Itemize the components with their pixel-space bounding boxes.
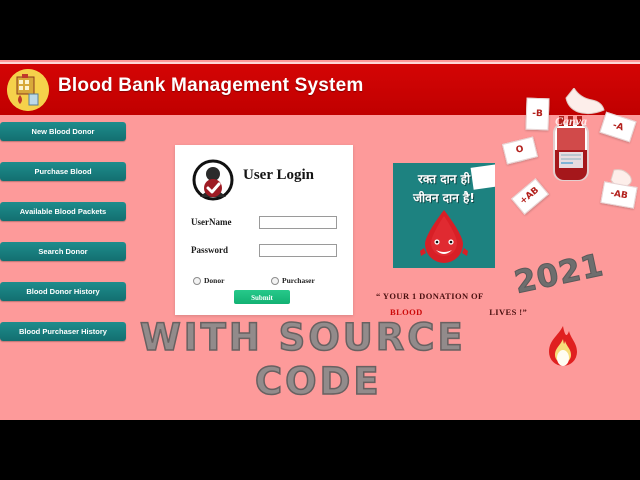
role-radio-group: Donor Purchaser (193, 272, 339, 284)
sidebar-item-blood-donor-history[interactable]: Blood Donor History (0, 282, 126, 301)
radio-purchaser-dot (271, 277, 279, 285)
poster-line-2: जीवन दान है! (393, 189, 495, 206)
sidebar-item-search-donor[interactable]: Search Donor (0, 242, 126, 261)
flame-icon (546, 325, 580, 371)
radio-purchaser-label: Purchaser (282, 276, 315, 285)
sidebar: New Blood Donor Purchase Blood Available… (0, 122, 132, 362)
letterbox-top (0, 0, 640, 60)
password-input[interactable] (259, 244, 337, 257)
poster-corner-fold (471, 164, 495, 189)
sidebar-item-available-blood-packets[interactable]: Available Blood Packets (0, 202, 126, 221)
radio-donor-dot (193, 277, 201, 285)
sidebar-item-new-blood-donor[interactable]: New Blood Donor (0, 122, 126, 141)
sidebar-item-purchase-blood[interactable]: Purchase Blood (0, 162, 126, 181)
radio-purchaser[interactable]: Purchaser (271, 272, 315, 284)
username-label: UserName (191, 217, 255, 227)
overlay-title-line-2: CODE (255, 360, 382, 403)
blood-bag-artwork: Canva -B -A O +AB -AB (502, 88, 640, 220)
submit-button[interactable]: Submit (234, 290, 290, 304)
video-frame: Blood Bank Management System New Blood D… (0, 0, 640, 480)
radio-donor[interactable]: Donor (193, 272, 224, 284)
login-heading: User Login (243, 167, 314, 184)
blood-type-card-b: -B (525, 98, 549, 131)
application-window: Blood Bank Management System New Blood D… (0, 60, 640, 420)
radio-donor-label: Donor (204, 276, 224, 285)
username-row: UserName (191, 216, 341, 231)
hospital-building-icon (7, 69, 49, 111)
blood-drop-mascot-icon (419, 208, 469, 268)
sidebar-item-blood-purchaser-history[interactable]: Blood Purchaser History (0, 322, 126, 341)
donation-poster: रक्त दान ही जीवन दान है! (393, 163, 495, 268)
user-check-avatar-icon (192, 159, 234, 201)
password-row: Password (191, 244, 341, 259)
username-input[interactable] (259, 216, 337, 229)
overlay-year: 2021 (511, 247, 607, 301)
login-panel: User Login UserName Password Donor Purch… (175, 145, 353, 315)
quote-part2: LIVES !” (489, 307, 527, 317)
password-label: Password (191, 245, 255, 255)
letterbox-bottom (0, 420, 640, 480)
overlay-title-line-1: WITH SOURCE (140, 316, 466, 359)
quote-part1: “ YOUR 1 DONATION OF (376, 291, 484, 301)
page-title: Blood Bank Management System (58, 75, 363, 97)
